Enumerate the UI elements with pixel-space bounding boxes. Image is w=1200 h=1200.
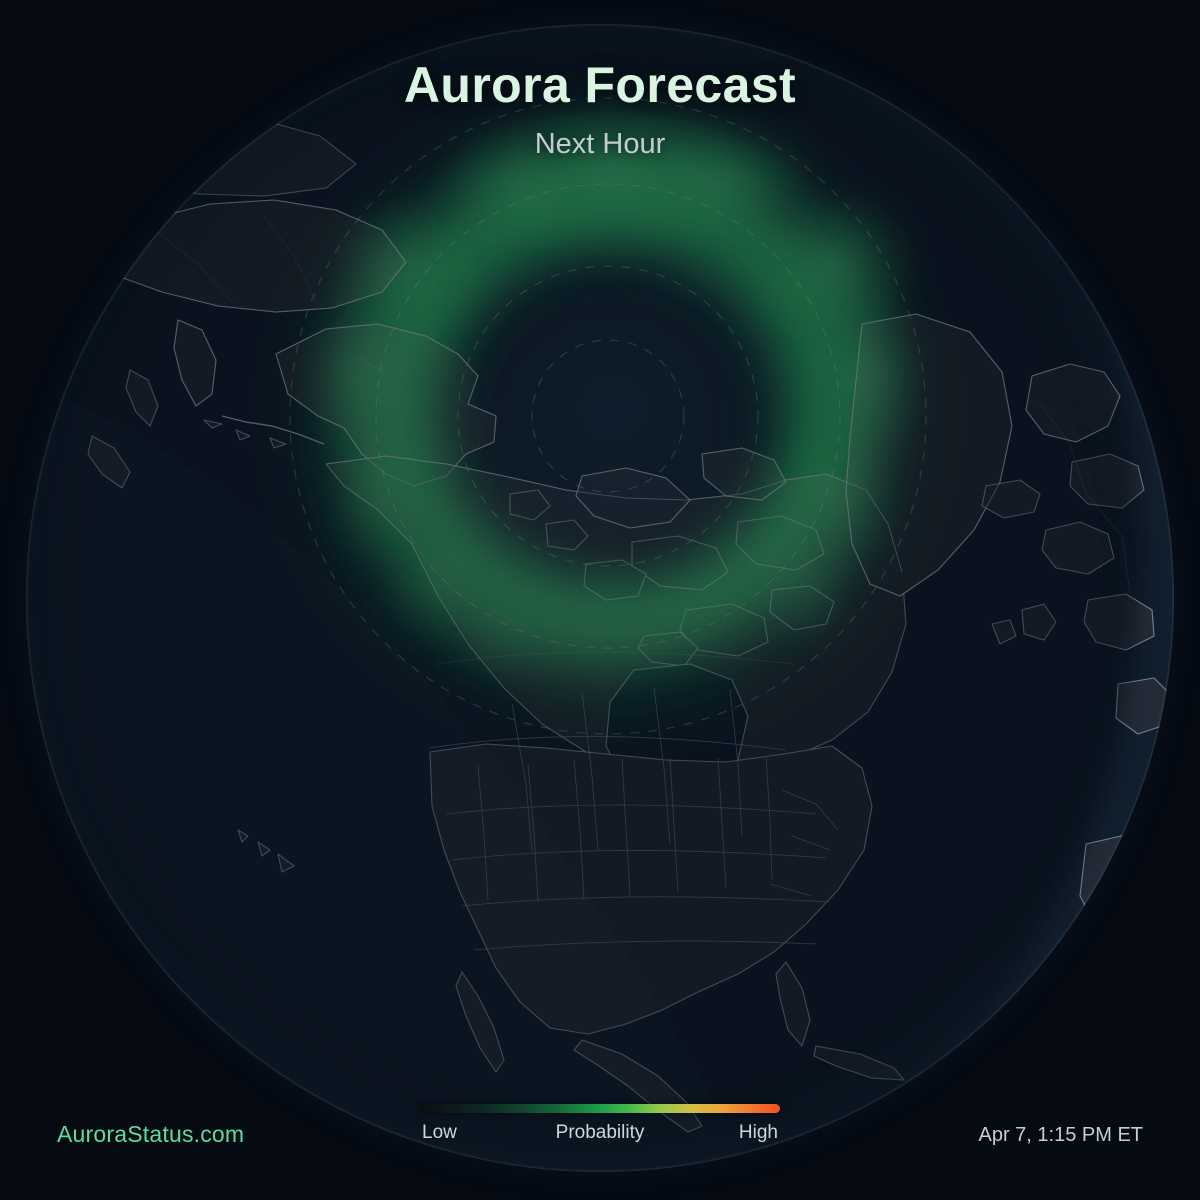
legend-title-label: Probability xyxy=(420,1122,780,1144)
aurora-polar-cap xyxy=(434,260,790,596)
legend-high-label: High xyxy=(739,1122,778,1144)
forecast-timestamp: Apr 7, 1:15 PM ET xyxy=(978,1124,1143,1147)
brand-watermark[interactable]: AuroraStatus.com xyxy=(57,1121,244,1148)
globe-geography xyxy=(26,24,1174,1172)
page-subtitle: Next Hour xyxy=(0,128,1200,161)
page-title: Aurora Forecast xyxy=(0,56,1200,114)
globe-map[interactable] xyxy=(26,24,1174,1172)
probability-legend: Low Probability High xyxy=(420,1104,780,1148)
probability-color-bar xyxy=(420,1104,780,1113)
legend-label-row: Low Probability High xyxy=(420,1122,780,1148)
aurora-forecast-screen: Aurora Forecast Next Hour Low Probabilit… xyxy=(0,0,1200,1200)
